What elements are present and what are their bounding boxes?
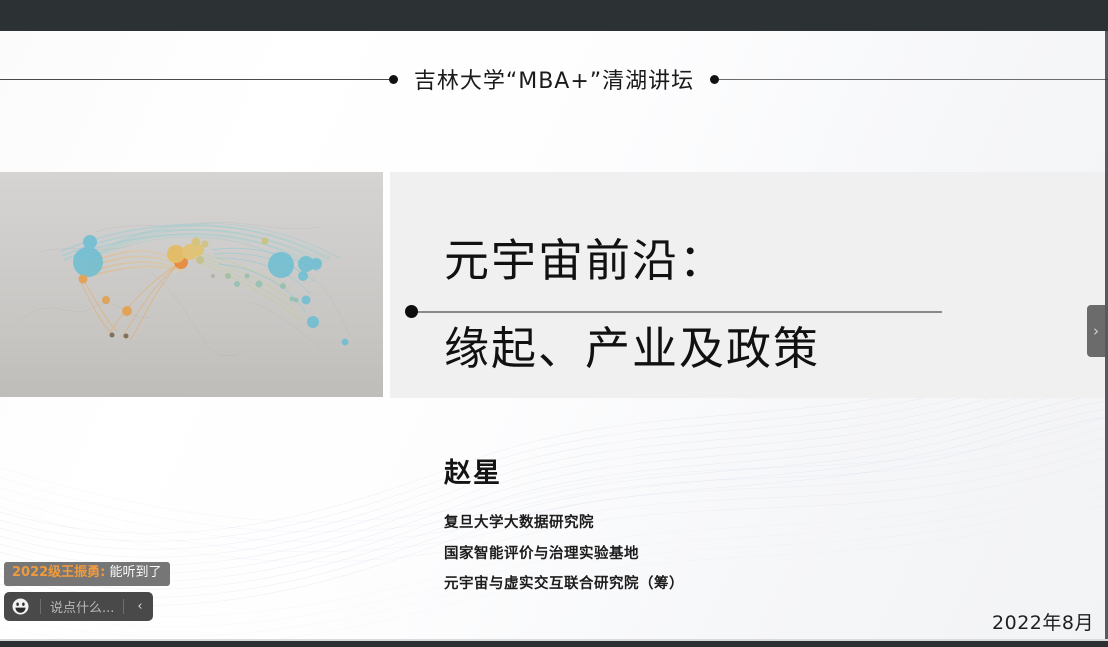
slide-title-block: 元宇宙前沿： 缘起、产业及政策 <box>408 172 1098 398</box>
chat-message: 2022级王振勇: 能听到了 <box>4 562 170 586</box>
header-dot-left-icon <box>389 75 398 84</box>
network-arc-graphic <box>0 172 383 397</box>
chat-divider-left <box>40 599 41 614</box>
video-player-window: 吉林大学“MBA+”清湖讲坛 <box>0 0 1108 647</box>
title-divider-dot-icon <box>405 305 418 318</box>
chevron-right-icon: › <box>1093 324 1099 339</box>
chat-message-text: 能听到了 <box>110 565 162 580</box>
speaker-block: 赵星 复旦大学大数据研究院 国家智能评价与治理实验基地 元宇宙与虚实交互联合研究… <box>444 451 1004 592</box>
header-dot-right-icon <box>710 75 719 84</box>
header-rule-right <box>719 79 1108 80</box>
chat-input-placeholder[interactable]: 说点什么... <box>50 597 114 616</box>
speaker-affiliation: 元宇宙与虚实交互联合研究院（筹） <box>444 577 1004 592</box>
slide-date: 2022年8月 <box>992 608 1094 635</box>
player-top-bar <box>0 0 1108 31</box>
side-panel-toggle-button[interactable]: › <box>1087 305 1105 357</box>
presentation-slide: 吉林大学“MBA+”清湖讲坛 <box>0 31 1108 641</box>
slide-header: 吉林大学“MBA+”清湖讲坛 <box>0 56 1108 102</box>
smiley-face-icon[interactable] <box>10 596 31 617</box>
chat-input-bar[interactable]: 说点什么... ‹ <box>4 592 153 621</box>
speaker-name: 赵星 <box>444 451 1004 490</box>
hero-network-visualization-image <box>0 172 383 397</box>
slide-title-line-1: 元宇宙前沿： <box>444 224 726 289</box>
header-title: 吉林大学“MBA+”清湖讲坛 <box>398 63 710 95</box>
speaker-affiliation: 国家智能评价与治理实验基地 <box>444 547 1004 562</box>
slide-title-line-2: 缘起、产业及政策 <box>444 312 820 377</box>
chat-message-user: 2022级王振勇: <box>12 565 105 580</box>
chat-divider-right <box>123 599 124 614</box>
speaker-affiliation: 复旦大学大数据研究院 <box>444 516 1004 531</box>
header-rule-left <box>0 79 389 80</box>
chevron-left-icon[interactable]: ‹ <box>133 599 146 614</box>
player-bottom-bar <box>0 641 1108 647</box>
